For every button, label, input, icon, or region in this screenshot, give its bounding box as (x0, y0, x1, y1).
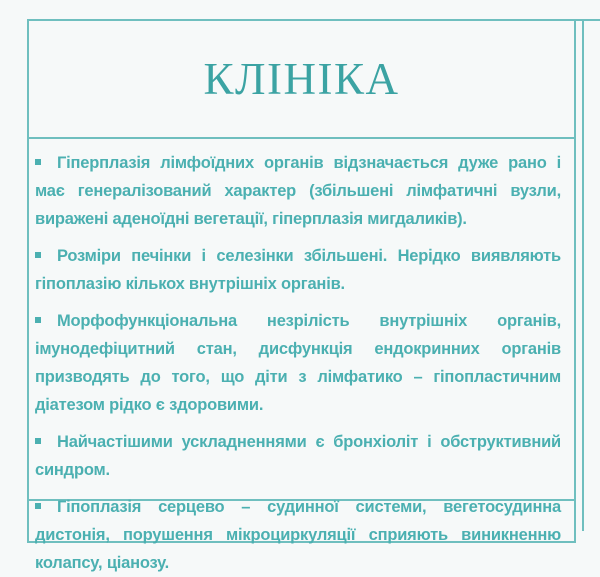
square-bullet-icon (35, 252, 41, 258)
list-item: Морфофункціональна незрілість внутрішніх… (35, 307, 561, 419)
body-content: Гіперплазія лімфоїдних органів відзначає… (29, 139, 574, 499)
frame-rail-right-outer (582, 19, 584, 531)
list-item: Гіперплазія лімфоїдних органів відзначає… (35, 149, 561, 233)
frame-rail-right-inner (574, 19, 576, 543)
list-item-text: Найчастішими ускладненнями є бронхіоліт … (35, 433, 561, 479)
square-bullet-icon (35, 317, 41, 323)
title-box: КЛІНІКА (29, 21, 574, 137)
list-item-text: Гіперплазія лімфоїдних органів відзначає… (35, 154, 561, 228)
square-bullet-icon (35, 438, 41, 444)
list-item-text: Розміри печінки і селезінки збільшені. Н… (35, 247, 561, 293)
page-title: КЛІНІКА (203, 57, 399, 102)
slide-canvas: КЛІНІКА Гіперплазія лімфоїдних органів в… (0, 0, 600, 563)
footer-box (29, 501, 574, 541)
list-item: Розміри печінки і селезінки збільшені. Н… (35, 242, 561, 298)
square-bullet-icon (35, 159, 41, 165)
list-item-text: Морфофункціональна незрілість внутрішніх… (35, 312, 561, 414)
list-item: Найчастішими ускладненнями є бронхіоліт … (35, 428, 561, 484)
